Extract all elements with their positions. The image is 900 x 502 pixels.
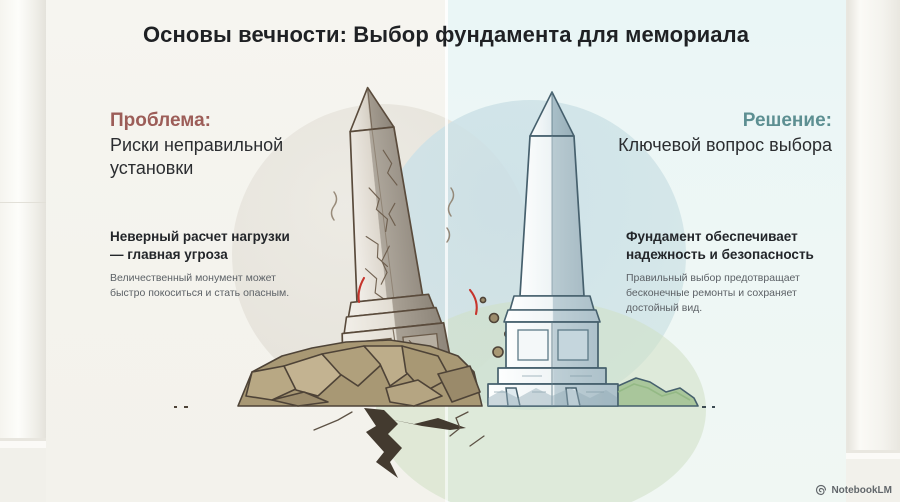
page-title: Основы вечности: Выбор фундамента для ме…	[46, 22, 846, 48]
right-kicker: Решение:	[580, 110, 832, 132]
wall-left-plinth	[0, 438, 46, 502]
left-sub-body: Величественный монумент может быстро пок…	[110, 271, 300, 301]
wall-left-column	[0, 0, 46, 502]
left-body-block: Неверный расчет нагрузки — главная угроз…	[110, 228, 300, 301]
illustration-canvas: Основы вечности: Выбор фундамента для ме…	[46, 0, 846, 502]
left-header-block: Проблема: Риски неправильной установки	[110, 110, 362, 179]
right-lede: Ключевой вопрос выбора	[580, 134, 832, 156]
right-body-block: Фундамент обеспечивает надежность и безо…	[626, 228, 832, 316]
notebooklm-spiral-icon	[815, 484, 827, 496]
right-header-block: Решение: Ключевой вопрос выбора	[580, 110, 832, 157]
notebooklm-label: NotebookLM	[831, 485, 892, 496]
infographic-slide: Основы вечности: Выбор фундамента для ме…	[0, 0, 900, 502]
left-sub-heading: Неверный расчет нагрузки — главная угроз…	[110, 228, 300, 264]
right-sub-heading: Фундамент обеспечивает надежность и безо…	[626, 228, 832, 264]
ground-crack	[364, 408, 466, 478]
left-lede: Риски неправильной установки	[110, 134, 362, 179]
wall-right-column	[842, 0, 900, 502]
right-sub-body: Правильный выбор предотвращает бесконечн…	[626, 271, 832, 316]
left-kicker: Проблема:	[110, 110, 362, 132]
notebooklm-watermark: NotebookLM	[815, 484, 892, 496]
